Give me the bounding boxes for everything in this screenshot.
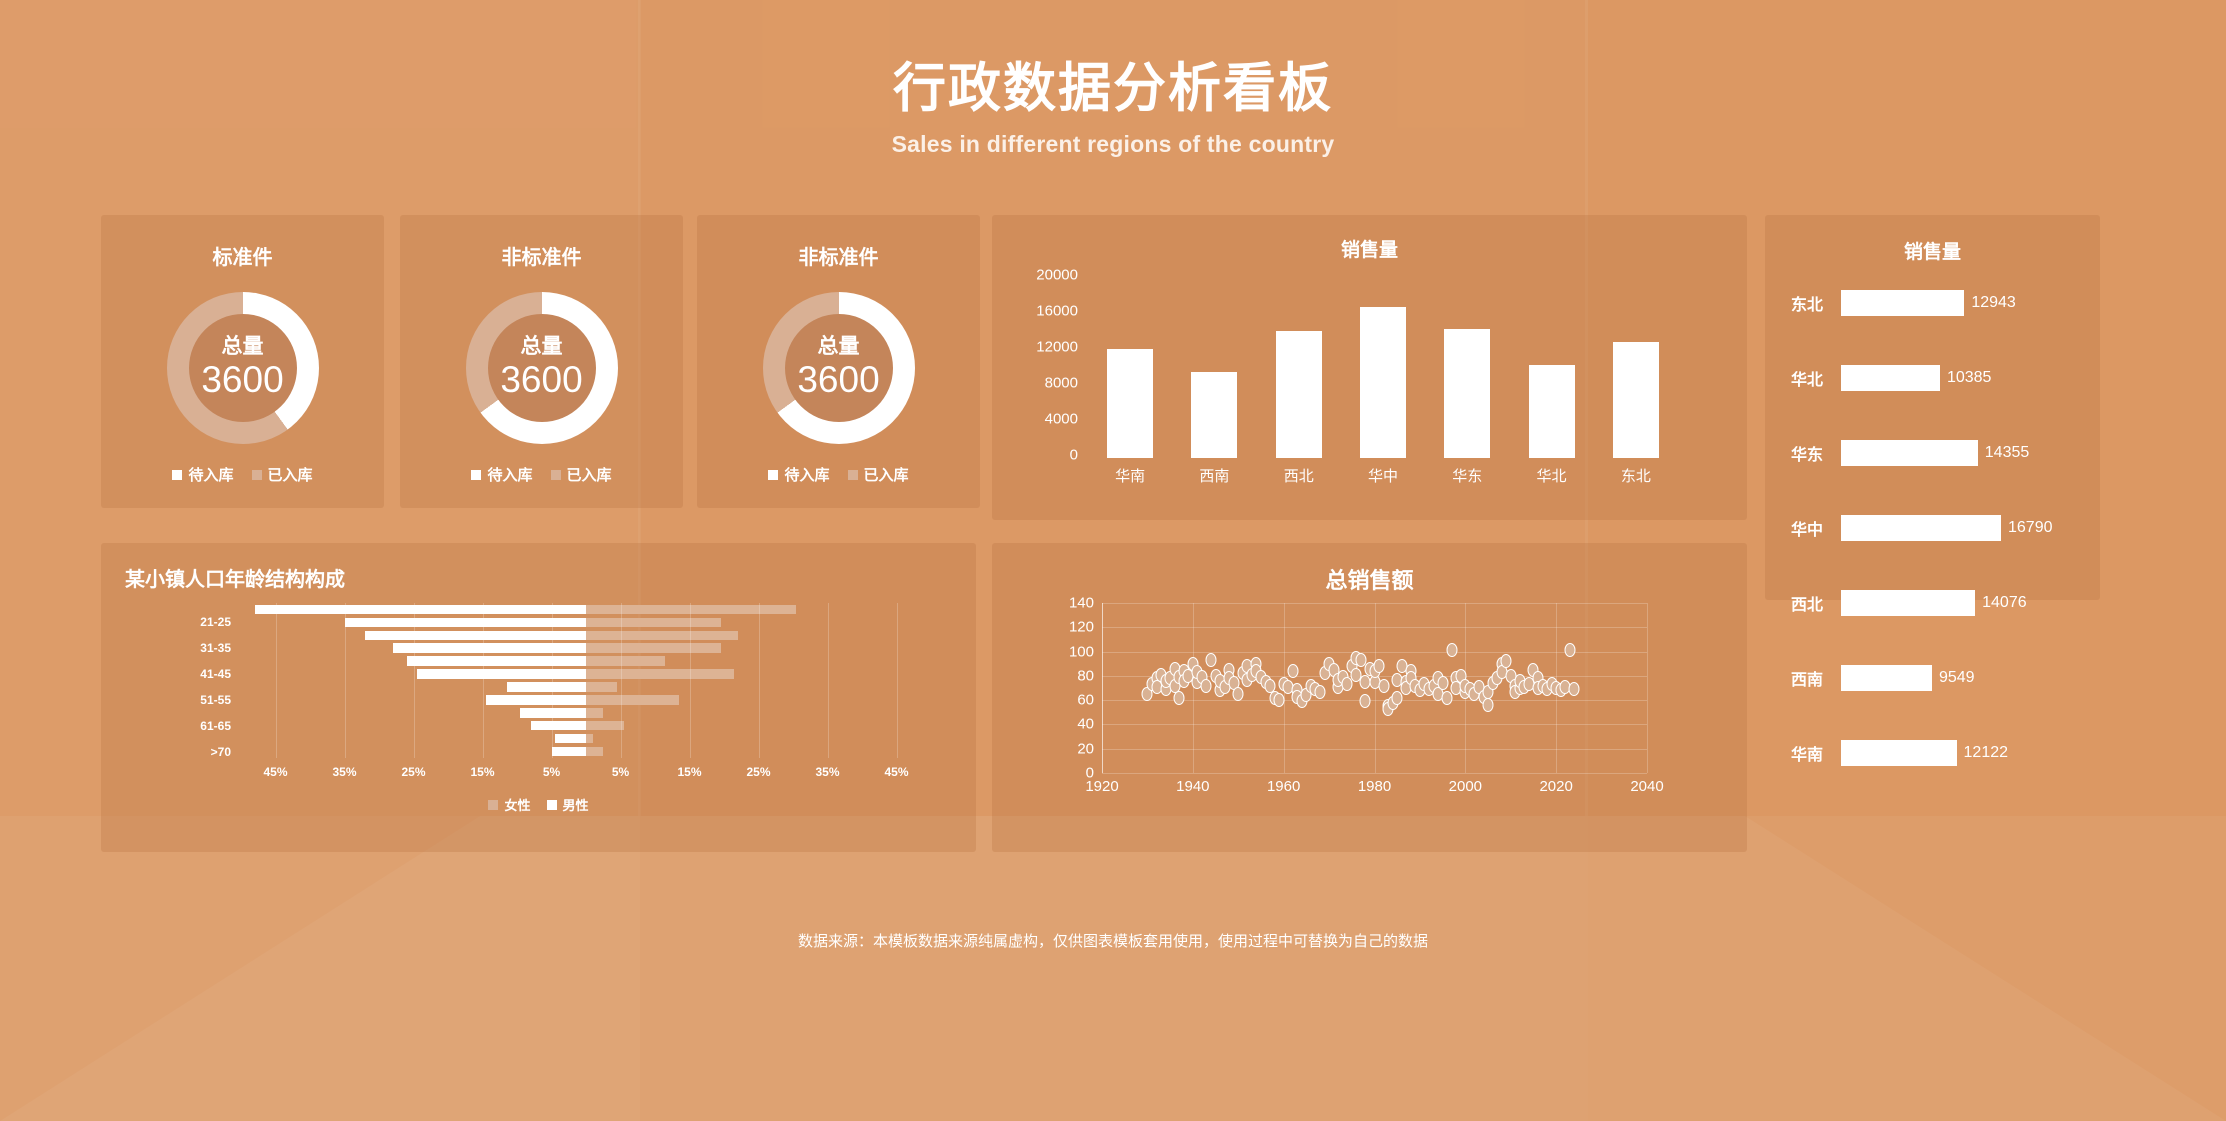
pyramid-gridline [759,603,760,758]
donut-legend: 待入库 已入库 [697,464,980,485]
scatter-x-tick: 2040 [1630,778,1663,795]
legend-swatch-icon [768,470,778,480]
legend-label: 女性 [504,795,530,814]
bar-chart-x-tick: 西南 [1191,465,1237,486]
donut-center: 总量 3600 [785,314,893,422]
pyramid-plot [241,603,931,758]
pyramid-bar-female [586,618,721,628]
bar-chart-x-tick: 华南 [1107,465,1153,486]
scatter-point [1437,676,1448,690]
page-title: 行政数据分析看板 [0,58,2226,121]
bar-chart-y-tick: 16000 [1036,303,1078,320]
bar-chart-bar [1107,349,1153,458]
donut-center-value: 3600 [201,359,283,402]
ranking-value-label: 10385 [1947,369,1992,387]
scatter-point [1206,653,1217,667]
pyramid-age-tick: 61-65 [200,719,231,733]
pyramid-bar-male [520,708,586,718]
donut-center: 总量 3600 [488,314,596,422]
pyramid-bar-male [507,682,586,692]
donut-legend: 待入库 已入库 [400,464,683,485]
bar-chart-plot [1088,278,1678,458]
scatter-x-tick: 1980 [1358,778,1391,795]
scatter-y-tick: 140 [1069,595,1094,612]
pyramid-percent-tick: 35% [815,765,839,779]
data-source-note: 数据来源：本模板数据来源纯属虚构，仅供图表模板套用使用，使用过程中可替换为自己的… [0,930,2226,951]
pyramid-bar-female [586,605,796,615]
bar-chart-bar [1191,372,1237,458]
donut-chart: 总量 3600 [167,292,319,444]
pyramid-bar-female [586,721,624,731]
bar-chart-bar [1613,342,1659,458]
legend-label: 男性 [563,795,589,814]
legend-swatch-icon [471,470,481,480]
ranking-region-label: 华东 [1791,441,1841,465]
legend-item-stocked: 已入库 [551,464,612,485]
pyramid-bar-female [586,682,617,692]
scatter-y-axis-line [1102,603,1103,773]
kpi-card-title: 非标准件 [400,241,683,270]
pyramid-age-tick: 31-35 [200,641,231,655]
donut-center: 总量 3600 [189,314,297,422]
pyramid-gridline [828,603,829,758]
legend-item-stocked: 已入库 [252,464,313,485]
legend-item-female: 女性 [488,795,530,814]
pyramid-bar-female [586,643,721,653]
scatter-gridline-vertical [1647,603,1648,773]
pyramid-percent-tick: 5% [543,765,560,779]
pyramid-age-tick: 51-55 [200,693,231,707]
pyramid-percent-tick: 45% [263,765,287,779]
bar-chart-x-tick: 华东 [1444,465,1490,486]
dashboard-header: 行政数据分析看板 Sales in different regions of t… [0,58,2226,158]
pyramid-percent-tick: 25% [746,765,770,779]
legend-swatch-icon [252,470,262,480]
pyramid-percent-axis: 45%35%25%15%5%5%15%25%35%45% [241,765,931,785]
region-sales-ranking-card[interactable]: 销售量 东北12943华北10385华东14355华中16790西北14076西… [1765,215,2100,600]
donut-center-label: 总量 [222,335,264,358]
bar-chart-y-tick: 20000 [1036,267,1078,284]
ranking-list: 东北12943华北10385华东14355华中16790西北14076西南954… [1765,288,2100,768]
ranking-row: 华南12122 [1765,738,2100,768]
donut-legend: 待入库 已入库 [101,464,384,485]
bar-chart-x-tick: 东北 [1613,465,1659,486]
bar-chart-y-axis: 040008000120001600020000 [992,270,1078,460]
pyramid-gridline [897,603,898,758]
legend-item-stocked: 已入库 [848,464,909,485]
scatter-gridline-horizontal [1102,773,1647,774]
pyramid-bar-male [555,734,586,744]
population-pyramid-card[interactable]: 某小镇人口年龄结构构成 21-2531-3541-4551-5561-65>70… [101,543,976,852]
kpi-card-title: 非标准件 [697,241,980,270]
bar-chart-x-tick: 华中 [1360,465,1406,486]
ranking-value-label: 16790 [2008,519,2053,537]
legend-item-pending: 待入库 [471,464,532,485]
legend-label: 已入库 [268,464,313,485]
legend-swatch-icon [488,800,498,810]
kpi-card-standard-parts[interactable]: 标准件 总量 3600 待入库 已入库 [101,215,384,508]
ranking-row: 华东14355 [1765,438,2100,468]
scatter-y-tick: 120 [1069,619,1094,636]
scatter-point [1274,693,1285,707]
ranking-region-label: 华北 [1791,366,1841,390]
pyramid-bar-female [586,631,738,641]
pyramid-bar-female [586,669,734,679]
scatter-point [1174,691,1185,705]
scatter-x-tick: 2020 [1539,778,1572,795]
ranking-bar [1841,515,2001,541]
pyramid-bar-male [255,605,586,615]
pyramid-gridline [552,603,553,758]
pyramid-age-tick: >70 [211,745,231,759]
pyramid-legend: 女性 男性 [101,795,976,814]
bar-chart-x-tick: 西北 [1276,465,1322,486]
scatter-plot [1102,603,1647,773]
scatter-point [1442,691,1453,705]
pyramid-bar-male [486,695,586,705]
pyramid-bar-female [586,747,603,757]
donut-center-label: 总量 [521,335,563,358]
pyramid-age-axis: 21-2531-3541-4551-5561-65>70 [101,603,231,758]
scatter-point [1287,664,1298,678]
scatter-point [1315,685,1326,699]
pyramid-gridline [690,603,691,758]
pyramid-bar-male [417,669,586,679]
chart-title: 销售量 [1765,237,2100,264]
bar-chart-y-tick: 12000 [1036,339,1078,356]
legend-label: 待入库 [487,464,532,485]
scatter-point [1360,694,1371,708]
donut-center-value: 3600 [500,359,582,402]
scatter-y-tick: 20 [1077,740,1094,757]
kpi-card-title: 标准件 [101,241,384,270]
ranking-region-label: 华南 [1791,741,1841,765]
page-subtitle: Sales in different regions of the countr… [0,131,2226,158]
bar-chart-y-tick: 8000 [1045,375,1078,392]
scatter-y-axis: 020406080100120140 [1040,603,1094,773]
pyramid-bar-male [365,631,586,641]
ranking-value-label: 12943 [1971,294,2016,312]
ranking-value-label: 9549 [1939,669,1975,687]
bar-chart-y-tick: 4000 [1045,411,1078,428]
legend-swatch-icon [172,470,182,480]
legend-label: 已入库 [567,464,612,485]
pyramid-bar-male [552,747,587,757]
pyramid-age-tick: 41-45 [200,667,231,681]
scatter-point [1446,643,1457,657]
scatter-x-tick: 1960 [1267,778,1300,795]
pyramid-bar-male [345,618,587,628]
pyramid-gridline [621,603,622,758]
pyramid-gridline [276,603,277,758]
pyramid-percent-tick: 5% [612,765,629,779]
scatter-point [1501,654,1512,668]
legend-label: 待入库 [784,464,829,485]
scatter-point [1201,679,1212,693]
chart-title: 销售量 [992,235,1747,262]
ranking-bar [1841,290,1964,316]
ranking-bar [1841,740,1957,766]
legend-label: 待入库 [188,464,233,485]
legend-item-pending: 待入库 [768,464,829,485]
pyramid-percent-tick: 45% [884,765,908,779]
ranking-value-label: 14355 [1985,444,2030,462]
ranking-row: 华中16790 [1765,513,2100,543]
donut-chart: 总量 3600 [763,292,915,444]
scatter-y-tick: 40 [1077,716,1094,733]
legend-item-pending: 待入库 [172,464,233,485]
bar-chart-x-tick: 华北 [1529,465,1575,486]
kpi-card-nonstandard-parts-2[interactable]: 非标准件 总量 3600 待入库 已入库 [697,215,980,508]
pyramid-gridline [414,603,415,758]
pyramid-bar-male [407,656,586,666]
bar-chart-x-axis: 华南西南西北华中华东华北东北 [1088,465,1678,486]
ranking-value-label: 14076 [1982,594,2027,612]
pyramid-bar-female [586,656,665,666]
scatter-y-tick: 100 [1069,643,1094,660]
chart-title: 总销售额 [992,563,1747,595]
scatter-point [1342,677,1353,691]
ranking-region-label: 西南 [1791,666,1841,690]
total-sales-scatter-card[interactable]: 总销售额 020406080100120140 1920194019601980… [992,543,1747,852]
legend-swatch-icon [547,800,557,810]
pyramid-bar-male [393,643,586,653]
ranking-bar [1841,365,1940,391]
pyramid-bar-female [586,734,593,744]
pyramid-age-tick: 21-25 [200,615,231,629]
scatter-x-axis: 1920194019601980200020202040 [1102,778,1647,800]
scatter-x-tick: 1920 [1085,778,1118,795]
pyramid-bar-male [531,721,586,731]
scatter-x-tick: 2000 [1449,778,1482,795]
pyramid-percent-tick: 25% [401,765,425,779]
donut-center-label: 总量 [818,335,860,358]
bar-chart-bar [1360,307,1406,458]
pyramid-percent-tick: 35% [332,765,356,779]
pyramid-percent-tick: 15% [470,765,494,779]
legend-swatch-icon [551,470,561,480]
scatter-point [1483,698,1494,712]
ranking-row: 华北10385 [1765,363,2100,393]
pyramid-bar-female [586,708,603,718]
scatter-y-tick: 80 [1077,667,1094,684]
ranking-region-label: 华中 [1791,516,1841,540]
scatter-point [1392,691,1403,705]
scatter-point [1569,682,1580,696]
ranking-bar [1841,665,1932,691]
scatter-x-tick: 1940 [1176,778,1209,795]
pyramid-bar-female [586,695,679,705]
bar-chart-bar [1529,365,1575,458]
ranking-region-label: 东北 [1791,291,1841,315]
chart-title: 某小镇人口年龄结构构成 [125,563,345,592]
ranking-row: 东北12943 [1765,288,2100,318]
pyramid-gridline [345,603,346,758]
ranking-row: 西北14076 [1765,588,2100,618]
bar-chart-y-tick: 0 [1070,447,1078,464]
scatter-y-tick: 60 [1077,692,1094,709]
pyramid-gridline [483,603,484,758]
donut-center-value: 3600 [797,359,879,402]
scatter-point [1233,687,1244,701]
scatter-point [1564,643,1575,657]
sales-volume-bar-chart-card[interactable]: 销售量 040008000120001600020000 华南西南西北华中华东华… [992,215,1747,520]
ranking-bar [1841,440,1978,466]
kpi-card-nonstandard-parts-1[interactable]: 非标准件 总量 3600 待入库 已入库 [400,215,683,508]
legend-swatch-icon [848,470,858,480]
scatter-point [1374,659,1385,673]
legend-label: 已入库 [864,464,909,485]
donut-chart: 总量 3600 [466,292,618,444]
ranking-region-label: 西北 [1791,591,1841,615]
legend-item-male: 男性 [547,795,589,814]
bar-chart-bar [1444,329,1490,458]
scatter-point [1378,679,1389,693]
ranking-bar [1841,590,1975,616]
bar-chart-bar [1276,331,1322,458]
ranking-value-label: 12122 [1964,744,2009,762]
pyramid-percent-tick: 15% [677,765,701,779]
ranking-row: 西南9549 [1765,663,2100,693]
